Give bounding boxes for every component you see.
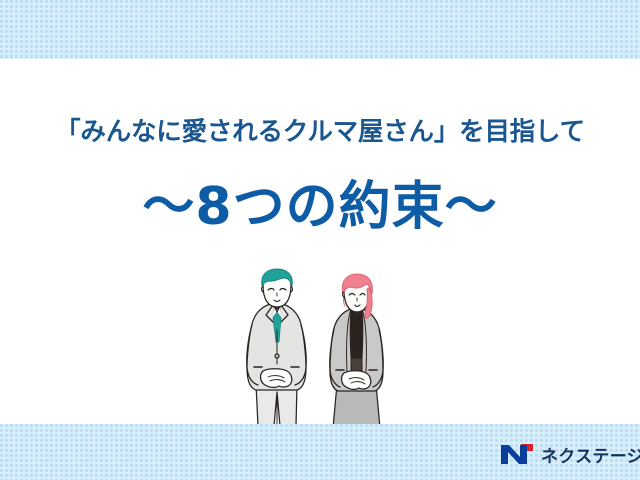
top-dot-band — [0, 0, 640, 59]
big-heading-container: 〜8つの約束〜 — [0, 180, 640, 235]
page-subtitle: 〜8つの約束〜 — [0, 180, 640, 235]
nextage-logo: ネクステージ — [500, 440, 640, 468]
headline-container: 「みんなに愛されるクルマ屋さん」を目指して — [0, 118, 640, 146]
page-title: 「みんなに愛されるクルマ屋さん」を目指して — [0, 118, 640, 146]
two-bowing-staff-illustration — [232, 268, 412, 428]
slide-root: 「みんなに愛されるクルマ屋さん」を目指して 〜8つの約束〜 — [0, 0, 640, 480]
male-staff-figure — [247, 269, 307, 426]
female-staff-figure — [330, 274, 384, 428]
nextage-n-logo-icon — [500, 442, 534, 466]
nextage-logo-text: ネクステージ — [541, 442, 640, 467]
